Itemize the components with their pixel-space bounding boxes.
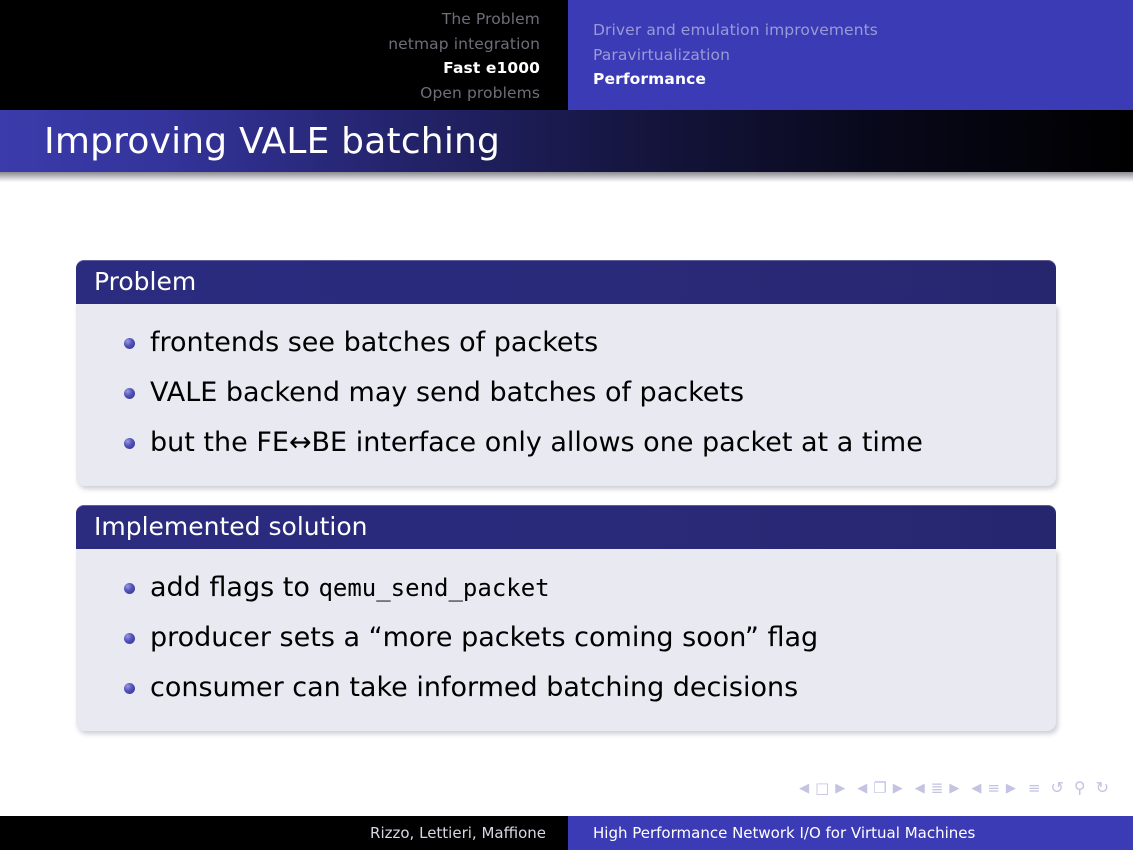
code-identifier-qemu-send-packet: qemu_send_packet [318, 574, 549, 602]
nav-subsection-performance[interactable]: Performance [593, 67, 1133, 92]
list-item: add flags to qemu_send_packet [96, 563, 1036, 613]
section-nav-group: ◀ ≡ ▶ [971, 781, 1016, 796]
bullet-dot-icon [124, 388, 135, 399]
bullet-dot-icon [124, 338, 135, 349]
slide-title-bar: Improving VALE batching [0, 110, 1133, 172]
bullet-dot-icon [124, 633, 135, 644]
header-nav-subsections: Driver and emulation improvements Paravi… [568, 0, 1133, 110]
section-icon[interactable]: ≡ [987, 781, 1000, 796]
block-problem-body: frontends see batches of packets VALE ba… [76, 304, 1056, 486]
subsection-icon[interactable]: ≣ [931, 781, 944, 796]
nav-section-netmap-integration[interactable]: netmap integration [0, 32, 540, 57]
back-icon[interactable]: ↺ [1050, 780, 1063, 796]
header-navigation-bar: The Problem netmap integration Fast e100… [0, 0, 1133, 110]
block-implemented-solution: Implemented solution add flags to qemu_s… [76, 505, 1056, 731]
list-item: VALE backend may send batches of packets [96, 368, 1036, 418]
title-separator [0, 172, 1133, 182]
previous-frame-icon[interactable]: ◀ [857, 782, 867, 795]
solution-bullet-list: add flags to qemu_send_packet producer s… [96, 563, 1036, 713]
frame-nav-group: ◀ ❐ ▶ [857, 781, 902, 796]
slide-icon[interactable]: □ [815, 781, 829, 796]
next-frame-icon[interactable]: ▶ [893, 782, 903, 795]
footer-talk-title: High Performance Network I/O for Virtual… [593, 824, 975, 842]
block-problem: Problem frontends see batches of packets… [76, 260, 1056, 486]
bullet-text: producer sets a “more packets coming soo… [150, 622, 818, 653]
previous-subsection-icon[interactable]: ◀ [915, 782, 925, 795]
slide-content: Problem frontends see batches of packets… [0, 182, 1133, 778]
bullet-dot-icon [124, 683, 135, 694]
block-implemented-solution-heading: Implemented solution [76, 505, 1056, 549]
list-item: producer sets a “more packets coming soo… [96, 613, 1036, 663]
frame-icon[interactable]: ❐ [873, 781, 886, 796]
bullet-text: frontends see batches of packets [150, 327, 598, 358]
next-slide-icon[interactable]: ▶ [835, 782, 845, 795]
forward-icon[interactable]: ↻ [1096, 780, 1109, 796]
bullet-text: consumer can take informed batching deci… [150, 672, 798, 703]
list-item: frontends see batches of packets [96, 318, 1036, 368]
document-icon[interactable]: ≡ [1028, 781, 1041, 796]
footer-bar: Rizzo, Lettieri, Maffione High Performan… [0, 816, 1133, 850]
bullet-text: but the FE↔BE interface only allows one … [150, 427, 923, 458]
header-nav-sections: The Problem netmap integration Fast e100… [0, 0, 568, 110]
footer-authors-panel: Rizzo, Lettieri, Maffione [0, 816, 568, 850]
subsection-nav-group: ◀ ≣ ▶ [915, 781, 960, 796]
bullet-text: VALE backend may send batches of packets [150, 377, 744, 408]
footer-title-panel: High Performance Network I/O for Virtual… [568, 816, 1133, 850]
nav-subsection-paravirtualization[interactable]: Paravirtualization [593, 43, 1133, 68]
bullet-dot-icon [124, 438, 135, 449]
beamer-navigation-symbols: ◀ □ ▶ ◀ ❐ ▶ ◀ ≣ ▶ ◀ ≡ ▶ ≡ ↺ ⚲ ↻ [799, 780, 1109, 796]
nav-section-the-problem[interactable]: The Problem [0, 7, 540, 32]
previous-section-icon[interactable]: ◀ [971, 782, 981, 795]
footer-authors: Rizzo, Lettieri, Maffione [370, 824, 546, 842]
slide-nav-group: ◀ □ ▶ [799, 781, 845, 796]
block-problem-heading: Problem [76, 260, 1056, 304]
nav-section-fast-e1000[interactable]: Fast e1000 [0, 56, 540, 81]
bullet-text: add flags to [150, 572, 318, 603]
list-item: consumer can take informed batching deci… [96, 663, 1036, 713]
search-icon[interactable]: ⚲ [1074, 780, 1086, 796]
page-title: Improving VALE batching [0, 121, 500, 162]
next-section-icon[interactable]: ▶ [1006, 782, 1016, 795]
list-item: but the FE↔BE interface only allows one … [96, 418, 1036, 468]
nav-subsection-driver-and-emulation-improvements[interactable]: Driver and emulation improvements [593, 18, 1133, 43]
next-subsection-icon[interactable]: ▶ [949, 782, 959, 795]
previous-slide-icon[interactable]: ◀ [799, 782, 809, 795]
nav-section-open-problems[interactable]: Open problems [0, 81, 540, 106]
block-implemented-solution-body: add flags to qemu_send_packet producer s… [76, 549, 1056, 731]
bullet-dot-icon [124, 583, 135, 594]
problem-bullet-list: frontends see batches of packets VALE ba… [96, 318, 1036, 468]
